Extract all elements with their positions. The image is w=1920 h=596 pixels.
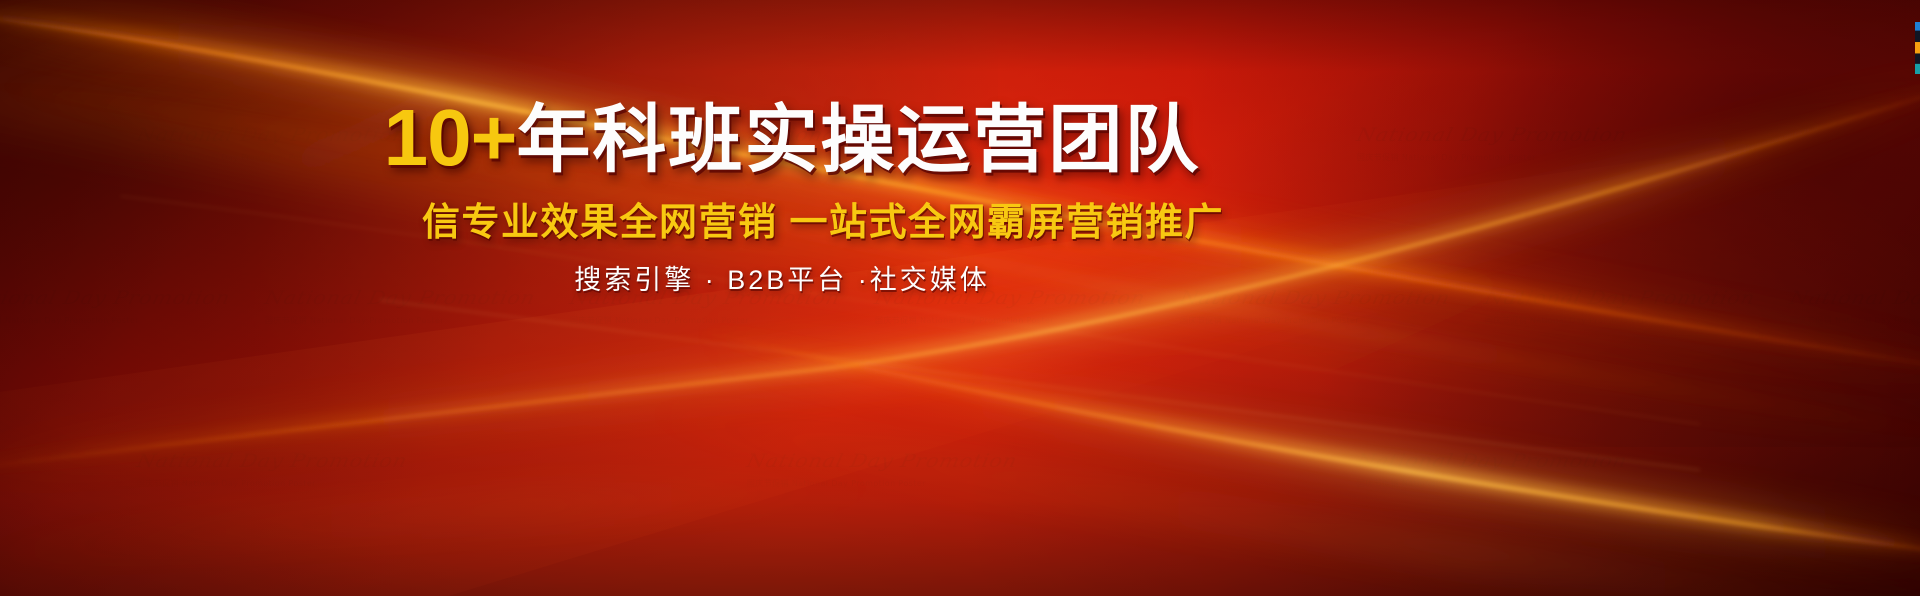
right-edge-artifact — [1915, 22, 1920, 74]
headline-text: 年科班实操运营团队 — [516, 98, 1200, 181]
banner-tagline: 搜索引擎 · B2B平台 ·社交媒体 — [0, 246, 1742, 296]
banner-subline: 信专业效果全网营销 一站式全网霸屏营销推广 — [0, 181, 1783, 247]
vignette-overlay — [0, 0, 1920, 596]
banner-copy: 10+年科班实操运营团队 信专业效果全网营销 一站式全网霸屏营销推广 搜索引擎 … — [0, 96, 1920, 297]
promo-banner: National Day Promotion国庆节促销 National Day… — [0, 0, 1920, 596]
banner-headline: 10+年科班实操运营团队 — [0, 96, 1752, 181]
headline-number: 10+ — [384, 93, 517, 182]
